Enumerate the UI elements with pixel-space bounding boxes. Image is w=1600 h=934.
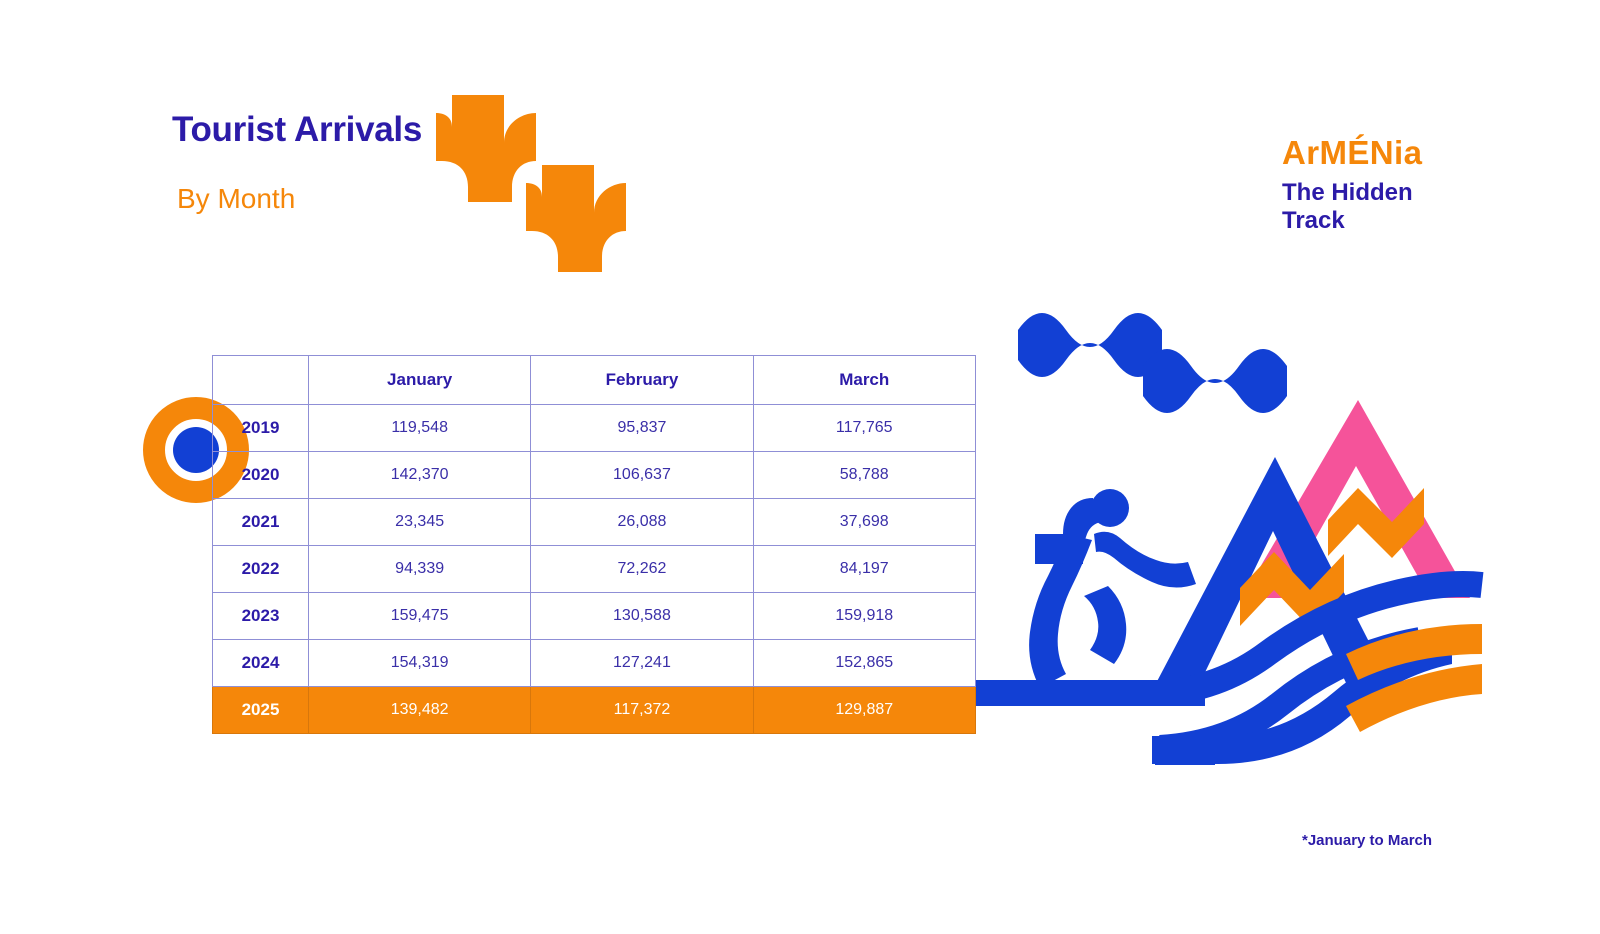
table-row: 2023 159,475 130,588 159,918 — [213, 593, 976, 640]
table-body: 2019 119,548 95,837 117,765 2020 142,370… — [213, 405, 976, 734]
brand-logo: ArMÉNia The Hidden Track — [1282, 136, 1482, 235]
table-row-highlighted: 2025 139,482 117,372 129,887 — [213, 687, 976, 734]
infographic-canvas: Tourist Arrivals By Month ArMÉNia The Hi… — [0, 0, 1600, 934]
table-row: 2019 119,548 95,837 117,765 — [213, 405, 976, 452]
pink-mountain — [1242, 400, 1470, 598]
table-row: 2020 142,370 106,637 58,788 — [213, 452, 976, 499]
cell-march: 129,887 — [753, 687, 975, 734]
cell-january: 159,475 — [309, 593, 531, 640]
cell-march: 152,865 — [753, 640, 975, 687]
row-year-label: 2021 — [213, 499, 309, 546]
table-corner-cell — [213, 356, 309, 405]
orange-peak-pink — [1328, 488, 1424, 558]
cell-january: 119,548 — [309, 405, 531, 452]
table-row: 2021 23,345 26,088 37,698 — [213, 499, 976, 546]
river-path-orange-segment — [1346, 624, 1482, 732]
header-block: Tourist Arrivals By Month — [172, 112, 692, 222]
orange-peak-blue — [1240, 552, 1344, 628]
cell-february: 127,241 — [531, 640, 753, 687]
table-row: 2022 94,339 72,262 84,197 — [213, 546, 976, 593]
cell-january: 154,319 — [309, 640, 531, 687]
blue-mountain — [1153, 457, 1393, 689]
cell-march: 37,698 — [753, 499, 975, 546]
page-subtitle: By Month — [172, 147, 692, 213]
footnote: *January to March — [1302, 832, 1432, 849]
cell-january: 139,482 — [309, 687, 531, 734]
cell-february: 130,588 — [531, 593, 753, 640]
cell-february: 72,262 — [531, 546, 753, 593]
row-year-label: 2025 — [213, 687, 309, 734]
table-header: January February March — [213, 356, 976, 405]
row-year-label: 2020 — [213, 452, 309, 499]
row-year-label: 2024 — [213, 640, 309, 687]
cell-february: 26,088 — [531, 499, 753, 546]
row-year-label: 2019 — [213, 405, 309, 452]
arrivals-table-container: January February March 2019 119,548 95,8… — [212, 355, 975, 734]
row-year-label: 2023 — [213, 593, 309, 640]
baseline-path — [975, 680, 1205, 706]
cell-march: 58,788 — [753, 452, 975, 499]
cloud-wave-upper — [1018, 313, 1162, 377]
cell-february: 106,637 — [531, 452, 753, 499]
cell-january: 23,345 — [309, 499, 531, 546]
table-header-row: January February March — [213, 356, 976, 405]
cell-february: 95,837 — [531, 405, 753, 452]
cell-march: 117,765 — [753, 405, 975, 452]
row-year-label: 2022 — [213, 546, 309, 593]
cell-february: 117,372 — [531, 687, 753, 734]
river-paths — [1155, 584, 1482, 752]
brand-name: ArMÉNia — [1282, 136, 1482, 169]
cell-january: 142,370 — [309, 452, 531, 499]
cell-january: 94,339 — [309, 546, 531, 593]
column-header-february: February — [531, 356, 753, 405]
brand-tagline: The Hidden Track — [1282, 169, 1442, 235]
cloud-wave-lower — [1143, 349, 1287, 413]
page-title: Tourist Arrivals — [172, 112, 692, 147]
column-header-january: January — [309, 356, 531, 405]
cell-march: 159,918 — [753, 593, 975, 640]
river-path-lower — [1152, 636, 1452, 764]
hiker-figure — [1029, 489, 1196, 688]
column-header-march: March — [753, 356, 975, 405]
cell-march: 84,197 — [753, 546, 975, 593]
table-row: 2024 154,319 127,241 152,865 — [213, 640, 976, 687]
arrivals-table: January February March 2019 119,548 95,8… — [212, 355, 976, 734]
